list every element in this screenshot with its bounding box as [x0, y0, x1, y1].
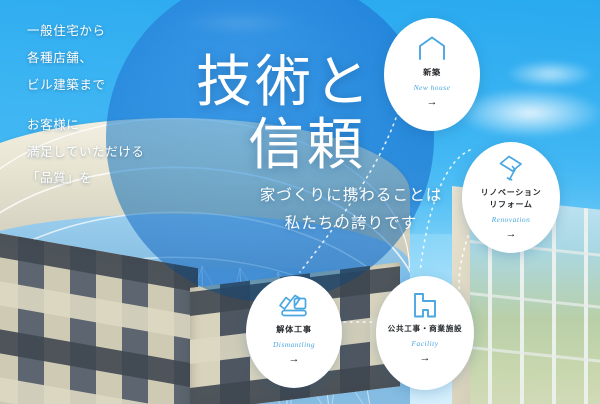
badge-label-jp: リノベーションリフォーム [481, 187, 542, 211]
badge-dismantling[interactable]: 解体工事 Dismantling → [246, 276, 342, 388]
intro-line-4: お客様に [27, 118, 79, 132]
house-icon [417, 35, 447, 61]
badge-label-jp: 公共工事・商業施設 [388, 324, 463, 335]
badge-label-en: Renovation [492, 215, 531, 224]
badge-label-en: New house [414, 83, 451, 92]
subhead-line-1: 家づくりに携わることは [260, 187, 443, 204]
intro-line-5: 満足していただける [27, 145, 145, 159]
intro-line-1: 一般住宅から [27, 24, 106, 38]
badge-label-en: Facility [412, 339, 439, 348]
intro-line-6: 「品質」を [27, 171, 93, 185]
arrow-icon: → [427, 97, 438, 108]
badge-label-en: Dismantling [273, 340, 315, 349]
excavator-icon [278, 292, 310, 318]
arrow-icon: → [420, 353, 431, 364]
badge-label-jp: 解体工事 [276, 324, 312, 336]
hero-banner: 一般住宅から各種店舗、ビル建築まで お客様に満足していただける「品質」を 技術と… [0, 0, 600, 404]
intro-line-2: 各種店舗、 [27, 51, 93, 65]
headline-line-1: 技術と [196, 52, 373, 114]
badge-facility[interactable]: 公共工事・商業施設 Facility → [376, 276, 474, 390]
subhead-line-2: 私たちの誇りです [285, 215, 418, 232]
badge-label-jp-line1: リノベーション [481, 188, 542, 197]
building-icon [411, 292, 439, 318]
arrow-icon: → [289, 354, 300, 365]
paint-roller-icon [496, 155, 526, 181]
hero-subheading: 家づくりに携わることは 私たちの誇りです [236, 182, 466, 237]
intro-line-3: ビル建築まで [27, 78, 106, 92]
badge-label-jp-line2: リフォーム [489, 200, 532, 209]
arrow-icon: → [506, 229, 517, 240]
headline-line-2: 信頼 [248, 115, 426, 178]
badge-new-house[interactable]: 新築 New house → [384, 18, 480, 131]
intro-copy: 一般住宅から各種店舗、ビル建築まで お客様に満足していただける「品質」を [27, 18, 197, 192]
badge-renovation[interactable]: リノベーションリフォーム Renovation → [462, 142, 560, 253]
badge-label-jp: 新築 [423, 67, 441, 79]
